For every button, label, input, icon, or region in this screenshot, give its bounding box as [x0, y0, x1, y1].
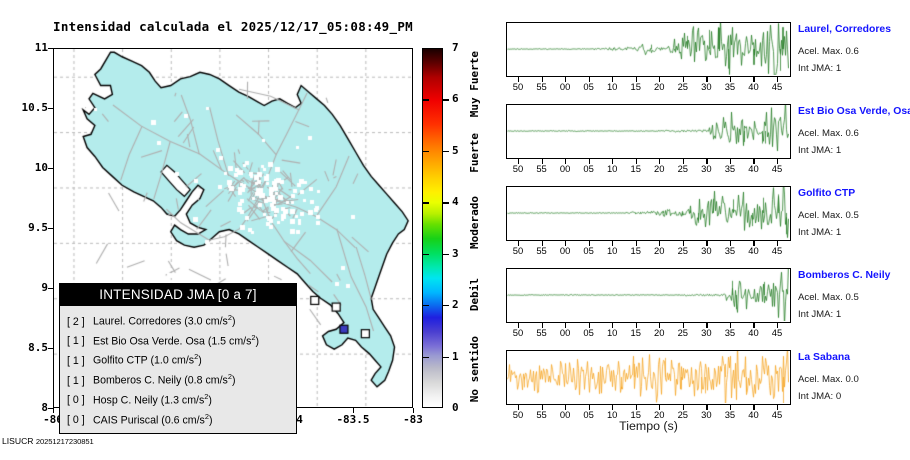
- time-tick-label: 55: [532, 245, 552, 256]
- station-jma-intensity: Int JMA: 1: [798, 63, 841, 74]
- time-tick-label: 55: [532, 163, 552, 174]
- station-name[interactable]: Bomberos C. Neily: [798, 270, 890, 281]
- time-tick-label: 25: [673, 245, 693, 256]
- seismogram-trace[interactable]: [506, 186, 791, 241]
- colorbar-tick-mark: [423, 99, 429, 100]
- time-tick-label: 00: [555, 327, 575, 338]
- time-tick-label: 00: [555, 245, 575, 256]
- trace-canvas: [507, 23, 789, 75]
- colorbar-category-label: Fuerte: [468, 133, 481, 173]
- station-name[interactable]: Laurel, Corredores: [798, 24, 891, 35]
- station-name[interactable]: Est Bio Osa Verde, Osa: [798, 106, 910, 117]
- trace-canvas: [507, 187, 789, 239]
- time-tick-label: 45: [767, 163, 787, 174]
- legend-row: [ 1 ]Est Bio Osa Verde. Osa (1.5 cm/s2): [67, 330, 296, 350]
- lat-tick-label: 9: [2, 281, 48, 294]
- lat-tick-mark: [48, 108, 53, 109]
- footer-agency: LISUCR: [2, 436, 34, 446]
- intensity-colorbar: [422, 48, 443, 408]
- time-tick-label: 15: [626, 163, 646, 174]
- colorbar-tick-label: 2: [452, 298, 459, 311]
- colorbar-tick-label: 1: [452, 350, 459, 363]
- time-tick-label: 15: [626, 245, 646, 256]
- station-max-acceleration: Acel. Max. 0.6: [798, 128, 859, 139]
- colorbar-tick-label: 3: [452, 247, 459, 260]
- time-tick-label: 35: [720, 163, 740, 174]
- time-tick-label: 20: [649, 245, 669, 256]
- trace-time-axis: 505500051015202530354045: [506, 323, 791, 339]
- footer: LISUCR 20251217230851: [2, 436, 94, 446]
- time-tick-label: 25: [673, 163, 693, 174]
- time-tick-label: 25: [673, 81, 693, 92]
- legend-row: [ 0 ]CAIS Puriscal (0.6 cm/s2): [67, 409, 296, 429]
- time-tick-label: 10: [602, 327, 622, 338]
- time-tick-label: 00: [555, 81, 575, 92]
- colorbar-tick-label: 0: [452, 401, 459, 414]
- time-tick-label: 40: [743, 81, 763, 92]
- station-jma-intensity: Int JMA: 1: [798, 309, 841, 320]
- time-tick-label: 10: [602, 81, 622, 92]
- time-tick-label: 25: [673, 327, 693, 338]
- time-tick-label: 15: [626, 81, 646, 92]
- trace-canvas: [507, 269, 789, 321]
- lat-tick-label: 10.5: [2, 101, 48, 114]
- station-max-acceleration: Acel. Max. 0.5: [798, 292, 859, 303]
- lat-tick-mark: [48, 348, 53, 349]
- lat-tick-label: 10: [2, 161, 48, 174]
- footer-code: 20251217230851: [36, 437, 94, 446]
- trace-time-axis: 505500051015202530354045: [506, 77, 791, 93]
- lon-tick-mark: [53, 408, 54, 413]
- colorbar-tick-mark: [443, 357, 449, 358]
- station-jma-intensity: Int JMA: 1: [798, 145, 841, 156]
- time-tick-label: 20: [649, 81, 669, 92]
- time-tick-label: 45: [767, 245, 787, 256]
- time-tick-label: 45: [767, 327, 787, 338]
- legend-header: INTENSIDAD JMA [0 a 7]: [60, 284, 296, 306]
- time-tick-label: 30: [696, 81, 716, 92]
- lat-tick-mark: [48, 48, 53, 49]
- colorbar-tick-mark: [443, 151, 449, 152]
- lat-tick-mark: [48, 168, 53, 169]
- colorbar-tick-mark: [423, 202, 429, 203]
- time-tick-label: 30: [696, 163, 716, 174]
- colorbar-tick-mark: [443, 202, 449, 203]
- colorbar-tick-label: 4: [452, 195, 459, 208]
- lat-tick-label: 11: [2, 41, 48, 54]
- lon-tick-label: -83.5: [330, 413, 376, 426]
- time-tick-label: 35: [720, 327, 740, 338]
- legend-rows: [ 2 ]Laurel. Corredores (3.0 cm/s2)[ 1 ]…: [60, 306, 296, 433]
- station-max-acceleration: Acel. Max. 0.0: [798, 374, 859, 385]
- trace-time-axis: 505500051015202530354045: [506, 159, 791, 175]
- colorbar-tick-mark: [423, 151, 429, 152]
- colorbar-tick-mark: [443, 305, 449, 306]
- time-tick-label: 30: [696, 245, 716, 256]
- time-tick-label: 40: [743, 245, 763, 256]
- time-tick-label: 05: [579, 81, 599, 92]
- time-tick-label: 05: [579, 163, 599, 174]
- colorbar-tick-mark: [423, 357, 429, 358]
- seismogram-trace[interactable]: [506, 350, 791, 405]
- station-name[interactable]: Golfito CTP: [798, 188, 855, 199]
- time-tick-label: 20: [649, 163, 669, 174]
- time-tick-label: 40: [743, 327, 763, 338]
- seismogram-trace[interactable]: [506, 104, 791, 159]
- time-tick-label: 20: [649, 327, 669, 338]
- legend-row: [ 2 ]Laurel. Corredores (3.0 cm/s2): [67, 310, 296, 330]
- legend-row: [ 0 ]Hosp C. Neily (1.3 cm/s2): [67, 389, 296, 409]
- time-tick-label: 35: [720, 245, 740, 256]
- time-tick-label: 50: [508, 163, 528, 174]
- lat-tick-mark: [48, 288, 53, 289]
- time-tick-label: 15: [626, 327, 646, 338]
- time-tick-label: 10: [602, 163, 622, 174]
- station-jma-intensity: Int JMA: 1: [798, 227, 841, 238]
- time-tick-label: 55: [532, 327, 552, 338]
- station-jma-intensity: Int JMA: 0: [798, 391, 841, 402]
- colorbar-tick-mark: [423, 254, 429, 255]
- trace-time-axis: 505500051015202530354045: [506, 241, 791, 257]
- time-tick-label: 50: [508, 327, 528, 338]
- lat-tick-label: 8.5: [2, 341, 48, 354]
- colorbar-category-label: Muy Fuerte: [468, 51, 481, 117]
- lat-tick-mark: [48, 228, 53, 229]
- trace-canvas: [507, 105, 789, 157]
- station-max-acceleration: Acel. Max. 0.5: [798, 210, 859, 221]
- time-tick-label: 10: [602, 245, 622, 256]
- colorbar-tick-mark: [443, 99, 449, 100]
- time-tick-label: 05: [579, 327, 599, 338]
- colorbar-tick-mark: [423, 305, 429, 306]
- time-tick-label: 00: [555, 163, 575, 174]
- time-tick-label: 45: [767, 81, 787, 92]
- lat-tick-label: 9.5: [2, 221, 48, 234]
- time-tick-label: 05: [579, 245, 599, 256]
- time-tick-label: 50: [508, 81, 528, 92]
- legend-row: [ 1 ]Bomberos C. Neily (0.8 cm/s2): [67, 369, 296, 389]
- lon-tick-mark: [353, 408, 354, 413]
- legend-row: [ 1 ]Golfito CTP (1.0 cm/s2): [67, 349, 296, 369]
- time-tick-label: 30: [696, 327, 716, 338]
- lon-tick-label: -83: [390, 413, 436, 426]
- colorbar-tick-label: 6: [452, 92, 459, 105]
- time-tick-label: 40: [743, 163, 763, 174]
- colorbar-category-label: Debil: [468, 278, 481, 311]
- colorbar-category-label: Moderado: [468, 196, 481, 249]
- time-tick-label: 35: [720, 81, 740, 92]
- seismogram-trace[interactable]: [506, 268, 791, 323]
- colorbar-category-label: No sentido: [468, 336, 481, 402]
- seismogram-trace[interactable]: [506, 22, 791, 77]
- lon-tick-mark: [413, 408, 414, 413]
- colorbar-tick-label: 5: [452, 144, 459, 157]
- time-axis-label: Tiempo (s): [506, 419, 791, 433]
- time-tick-label: 55: [532, 81, 552, 92]
- station-name[interactable]: La Sabana: [798, 352, 850, 363]
- trace-canvas: [507, 351, 789, 403]
- colorbar-tick-label: 7: [452, 41, 459, 54]
- time-tick-label: 50: [508, 245, 528, 256]
- station-max-acceleration: Acel. Max. 0.6: [798, 46, 859, 57]
- colorbar-tick-mark: [443, 254, 449, 255]
- intensity-legend: INTENSIDAD JMA [0 a 7] [ 2 ]Laurel. Corr…: [59, 283, 297, 434]
- map-title: Intensidad calculada el 2025/12/17_05:08…: [0, 19, 466, 34]
